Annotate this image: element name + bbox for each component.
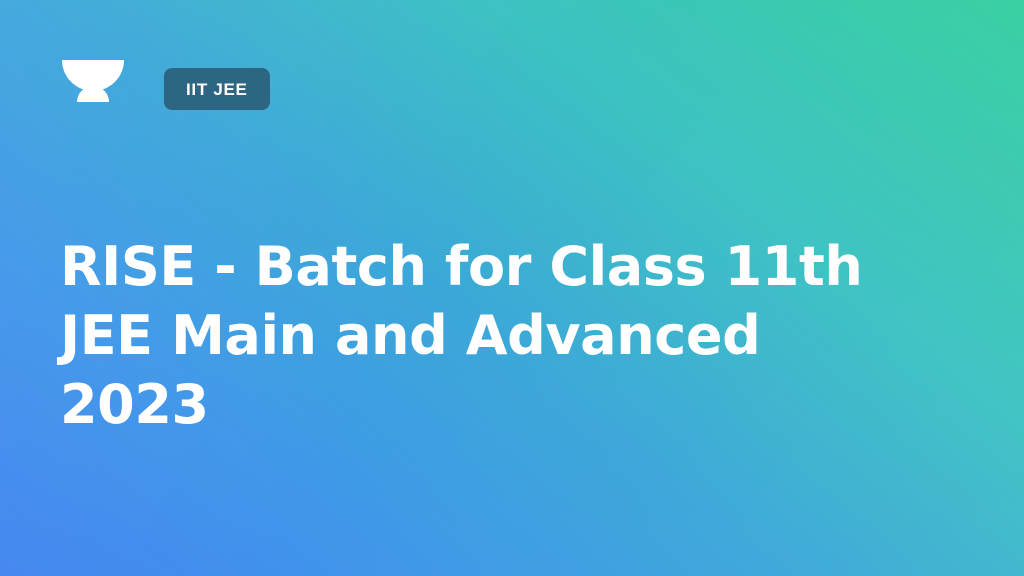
banner-title-block: RISE - Batch for Class 11th JEE Main and…	[60, 232, 940, 439]
unacademy-logo-icon	[60, 58, 126, 120]
category-badge[interactable]: IIT JEE	[164, 68, 270, 110]
course-banner: IIT JEE RISE - Batch for Class 11th JEE …	[0, 0, 1024, 576]
banner-header: IIT JEE	[60, 58, 270, 120]
page-title: RISE - Batch for Class 11th JEE Main and…	[60, 232, 900, 439]
